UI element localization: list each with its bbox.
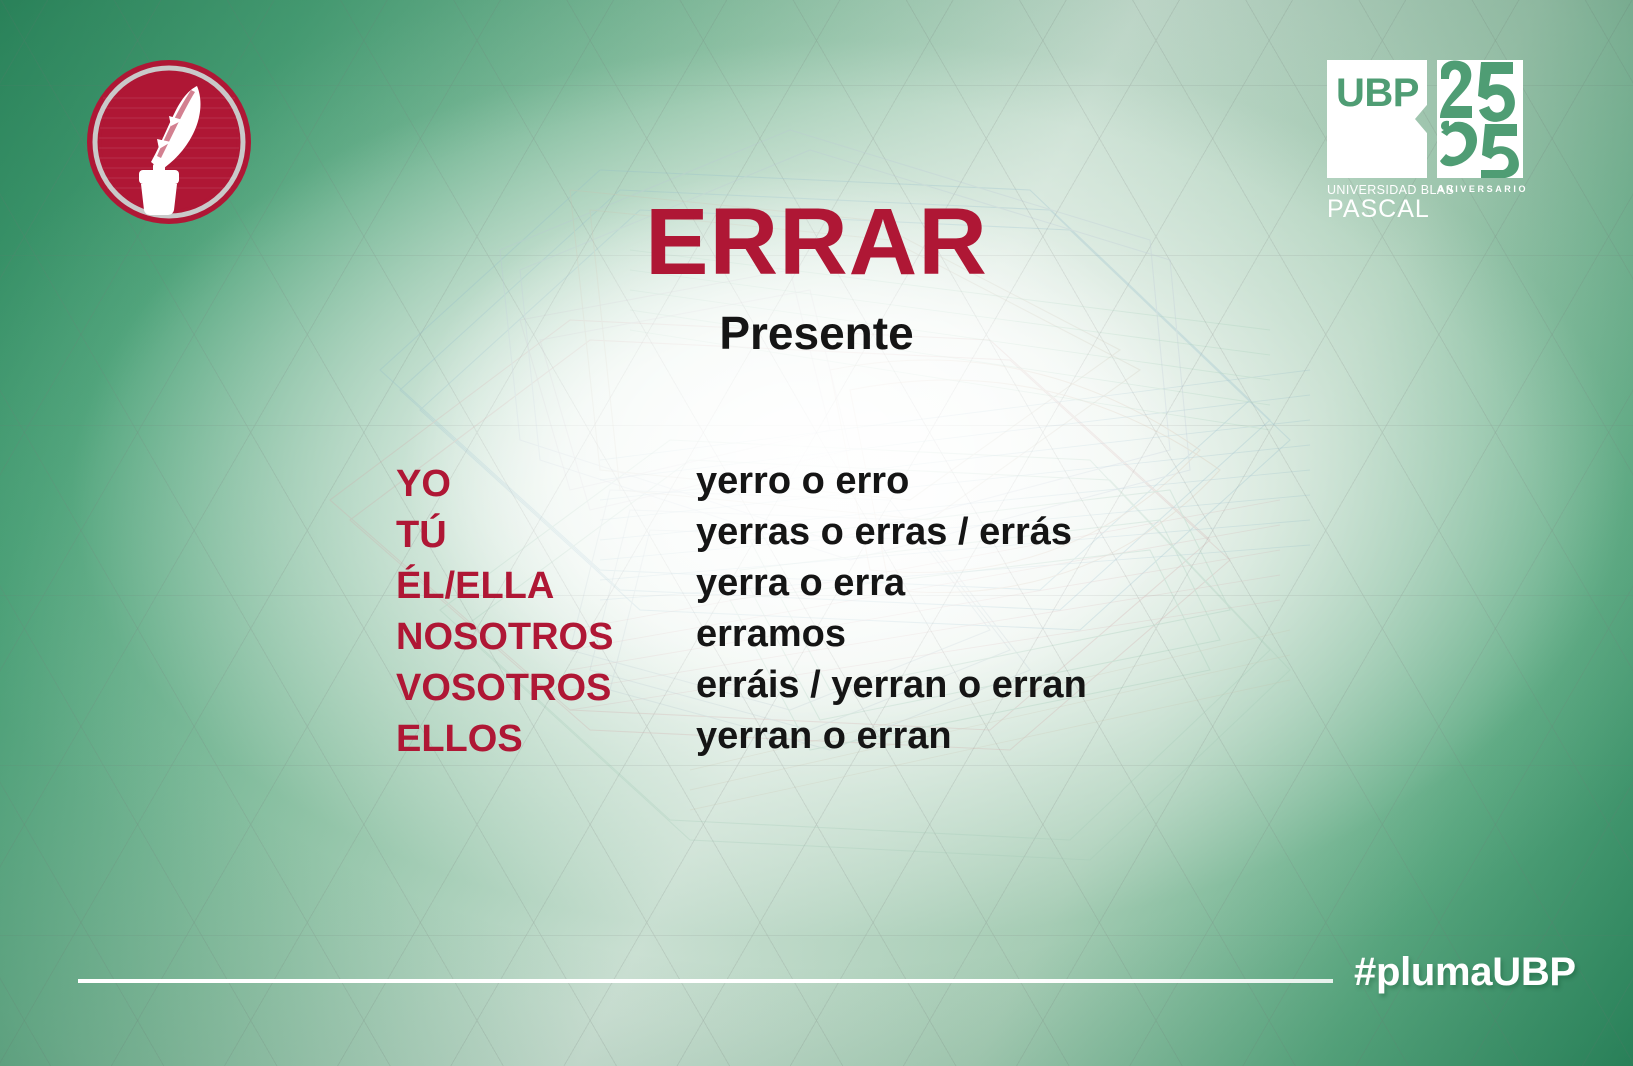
conjugation-table: YO yerro o erro TÚ yerras o erras / errá… [396, 464, 1196, 770]
conjugated-form: yerran o erran [696, 716, 952, 756]
conjugated-form: yerras o erras / errás [696, 512, 1072, 552]
table-row: YO yerro o erro [396, 464, 1196, 515]
pronoun-label: VOSOTROS [396, 668, 611, 708]
slide-canvas: UBP UNIVERSIDAD BLAS PASCAL [0, 0, 1633, 1066]
ubp-mark: UBP [1327, 60, 1427, 178]
table-row: ÉL/ELLA yerra o erra [396, 566, 1196, 617]
anniversary-label: ANIVERSARIO [1437, 184, 1523, 194]
anniversary-block: ANIVERSARIO [1437, 60, 1523, 194]
pronoun-label: ÉL/ELLA [396, 566, 554, 606]
page-subtitle-tense: Presente [0, 310, 1633, 356]
page-title-verb: ERRAR [0, 195, 1633, 290]
table-row: ELLOS yerran o erran [396, 719, 1196, 770]
pronoun-label: TÚ [396, 515, 447, 555]
pronoun-label: YO [396, 464, 451, 504]
conjugated-form: erráis / yerran o erran [696, 665, 1087, 705]
conjugated-form: yerro o erro [696, 461, 909, 501]
table-row: TÚ yerras o erras / errás [396, 515, 1196, 566]
anniversary-25-icon [1437, 60, 1523, 178]
pronoun-label: ELLOS [396, 719, 523, 759]
footer-divider [78, 979, 1333, 983]
pronoun-label: NOSOTROS [396, 617, 613, 657]
campaign-hashtag: #plumaUBP [1354, 950, 1576, 995]
table-row: VOSOTROS erráis / yerran o erran [396, 668, 1196, 719]
ubp-mark-text: UBP [1327, 60, 1419, 113]
anniversary-mark [1437, 60, 1523, 178]
table-row: NOSOTROS erramos [396, 617, 1196, 668]
conjugated-form: yerra o erra [696, 563, 905, 603]
conjugated-form: erramos [696, 614, 846, 654]
